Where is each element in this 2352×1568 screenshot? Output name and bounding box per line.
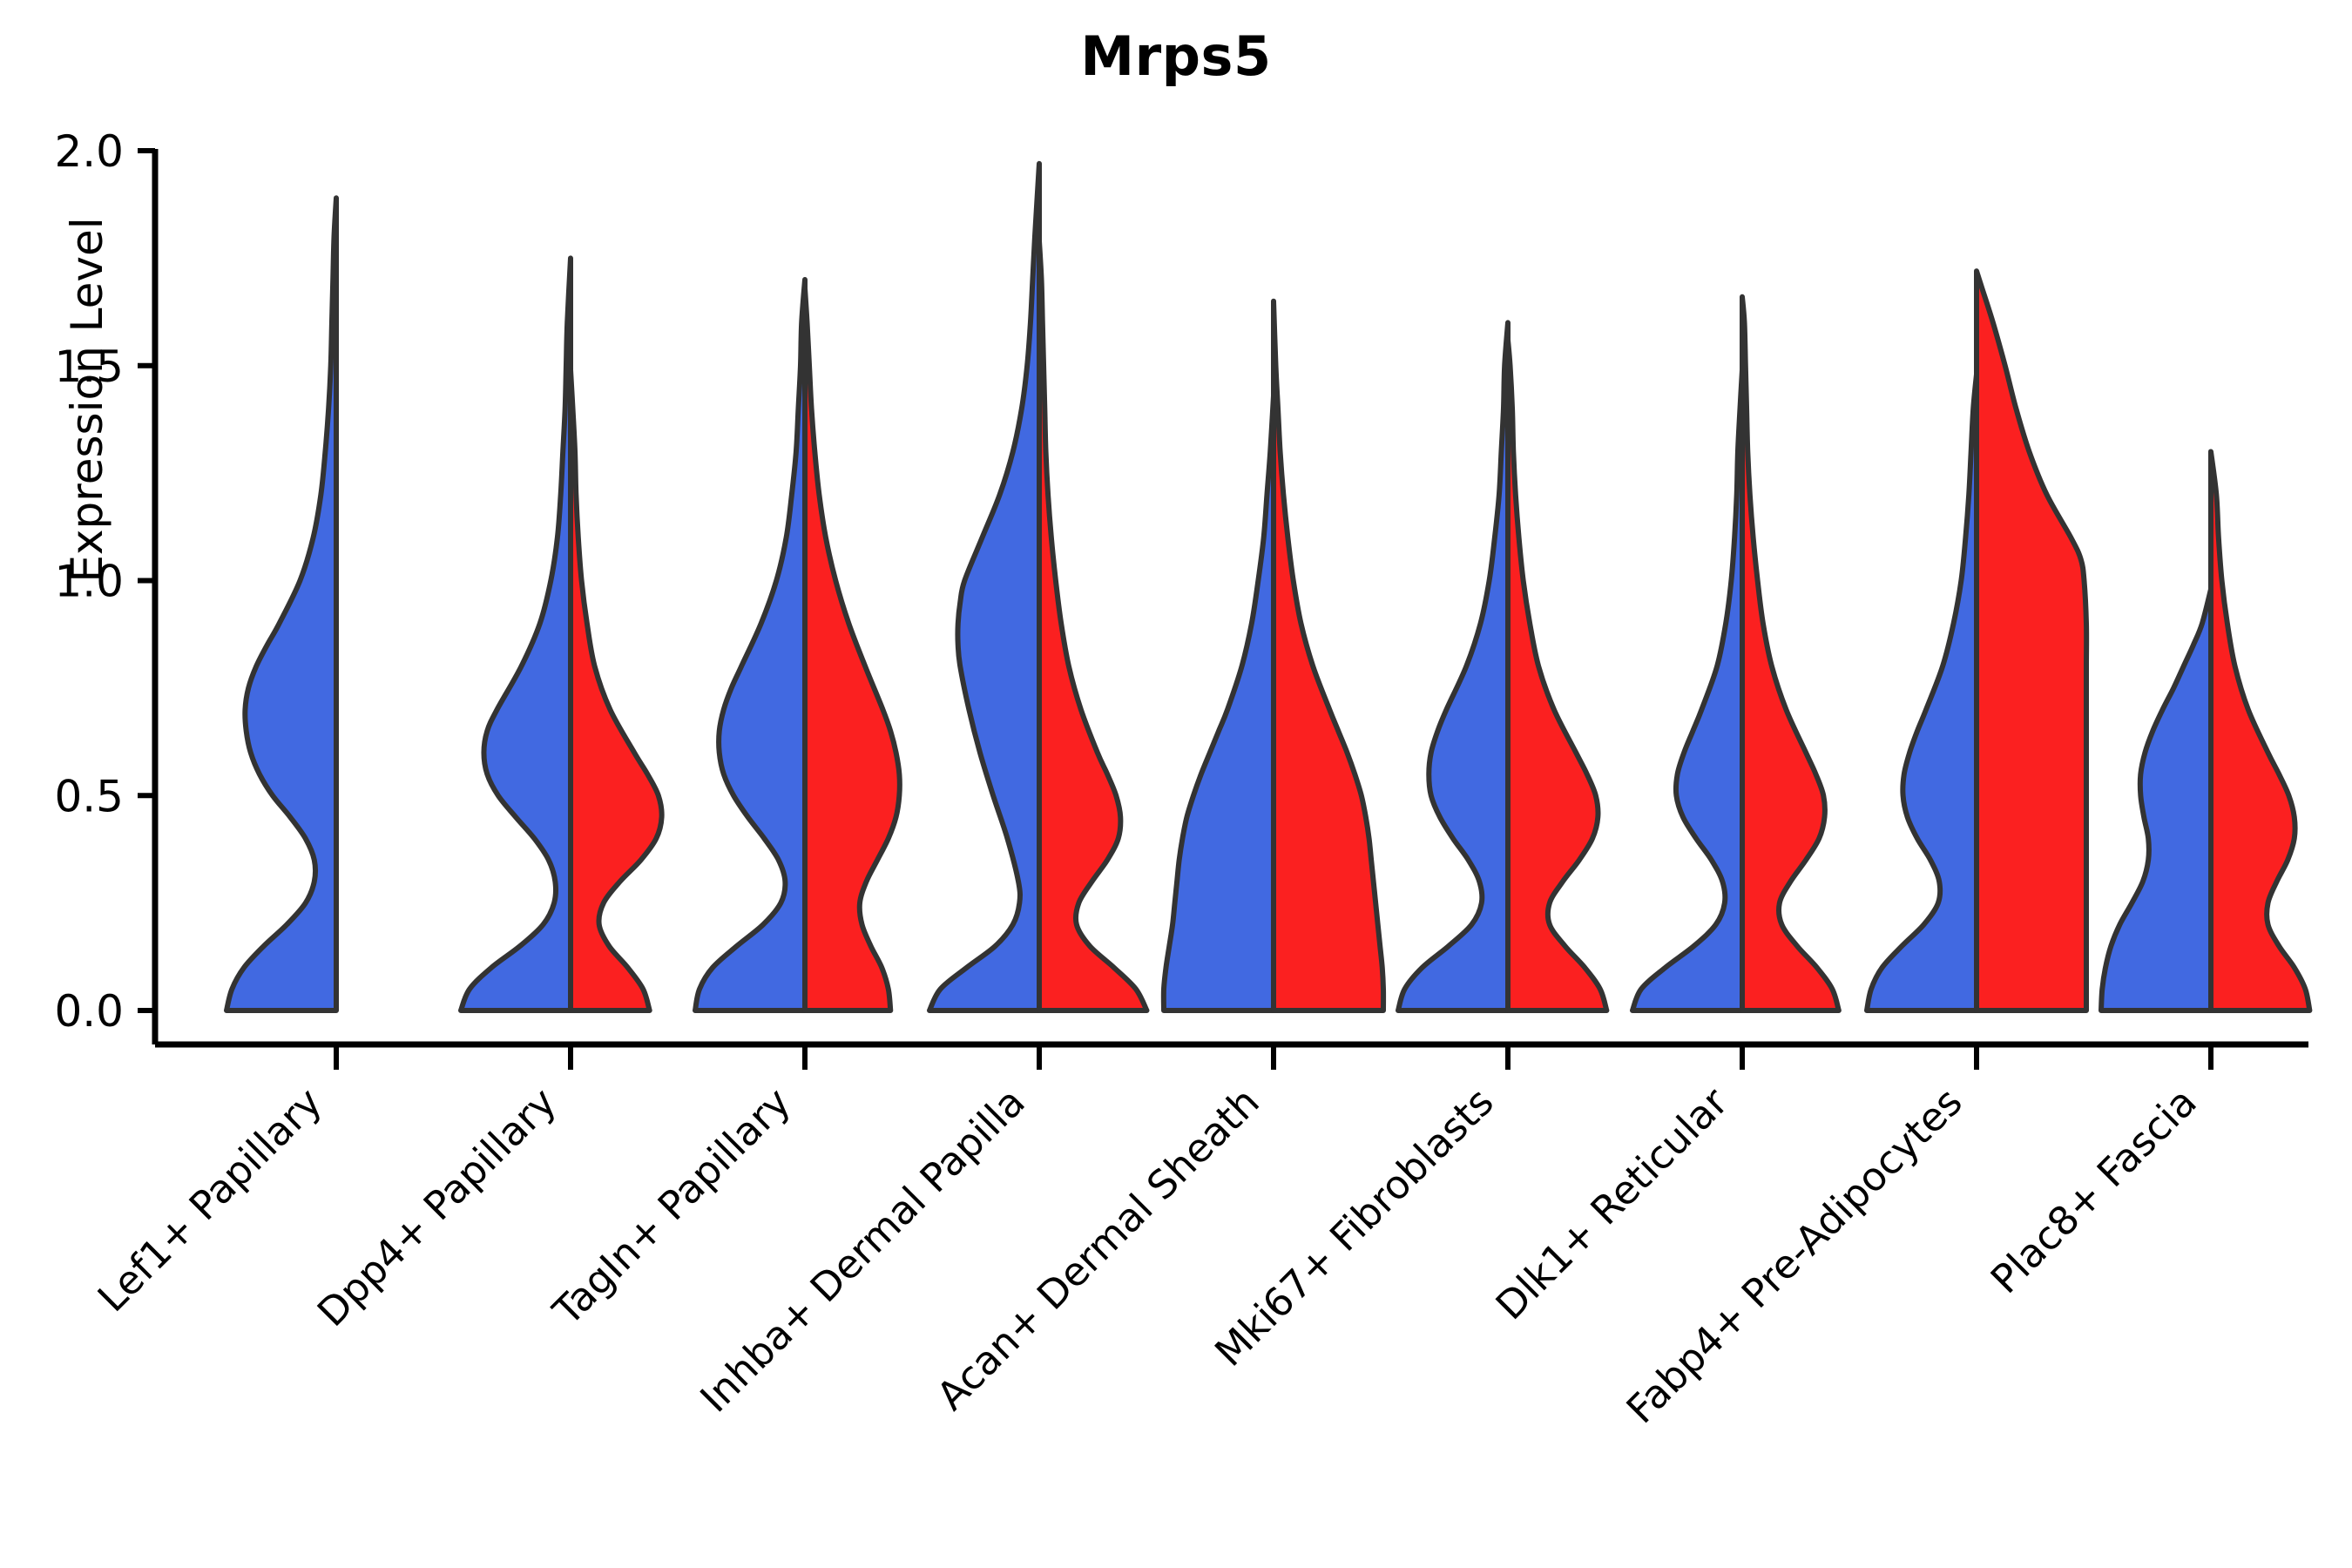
violin-group_b-5 <box>1508 340 1606 1010</box>
chart-canvas: 0.00.51.01.52.0 Lef1+ PapillaryDpp4+ Pap… <box>0 0 2352 1568</box>
x-tick-label-2: TagIn+ Papillary <box>544 1078 800 1335</box>
x-tick-label-6: Dlk1+ Reticular <box>1487 1078 1737 1328</box>
violin-group_a-7 <box>1867 375 1977 1010</box>
violin-group_a-8 <box>2101 589 2211 1010</box>
violin-group_b-8 <box>2211 451 2309 1010</box>
y-tick-label: 1.0 <box>54 557 124 607</box>
violin-group_a-3 <box>929 164 1039 1010</box>
violin-group_b-4 <box>1274 301 1383 1010</box>
y-tick-label: 0.5 <box>54 771 124 821</box>
violin-group_a-4 <box>1164 395 1274 1010</box>
x-tick-label-8: Plac8+ Fascia <box>1982 1078 2206 1302</box>
x-tick-label-1: Dpp4+ Papillary <box>308 1078 565 1335</box>
violin-group_b-6 <box>1742 297 1839 1010</box>
violin-group_a-5 <box>1398 322 1508 1010</box>
violin-group_a-6 <box>1632 370 1742 1010</box>
violin-group_b-1 <box>571 370 662 1010</box>
violins-layer <box>226 164 2309 1010</box>
violin-group_b-7 <box>1977 271 2086 1010</box>
violin-group_a-2 <box>695 280 805 1010</box>
violin-group_a-1 <box>461 258 571 1010</box>
x-tick-label-0: Lef1+ Papillary <box>89 1078 331 1321</box>
y-tick-label: 0.0 <box>54 986 124 1037</box>
violin-group_b-3 <box>1039 241 1146 1010</box>
violin-group_b-2 <box>805 288 900 1010</box>
violin-group_a-0 <box>226 198 336 1010</box>
y-tick-label: 1.5 <box>54 341 124 392</box>
x-tick-labels: Lef1+ PapillaryDpp4+ PapillaryTagIn+ Pap… <box>89 1078 2206 1432</box>
y-tick-labels: 0.00.51.01.52.0 <box>54 126 124 1037</box>
violin-plot-figure: Mrps5 Expression Level 0.00.51.01.52.0 L… <box>0 0 2352 1568</box>
y-tick-label: 2.0 <box>54 126 124 177</box>
